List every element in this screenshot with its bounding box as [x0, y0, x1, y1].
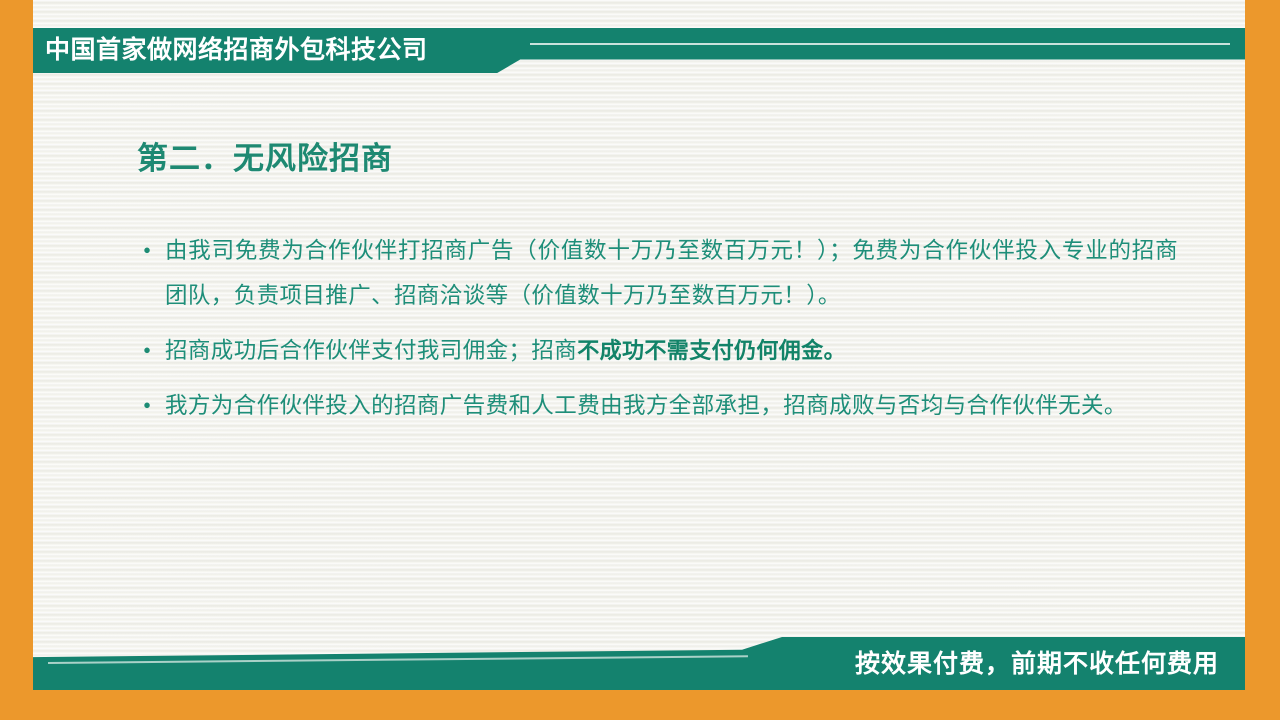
- bullet-marker-icon: •: [143, 328, 165, 373]
- bullet-segment-plain: 我方为合作伙伴投入的招商广告费和人工费由我方全部承担，招商成败与否均与合作伙伴无…: [165, 393, 1127, 418]
- bullet-text-3: 我方为合作伙伴投入的招商广告费和人工费由我方全部承担，招商成败与否均与合作伙伴无…: [165, 383, 1178, 428]
- footer-tagline: 按效果付费，前期不收任何费用: [855, 645, 1219, 683]
- bullet-list: • 由我司免费为合作伙伴打招商广告（价值数十万乃至数百万元！）；免费为合作伙伴投…: [143, 228, 1178, 438]
- bullet-marker-icon: •: [143, 383, 165, 428]
- slide-title: 第二．无风险招商: [137, 133, 393, 178]
- presentation-slide: 中国首家做网络招商外包科技公司 第二．无风险招商 • 由我司免费为合作伙伴打招商…: [0, 0, 1280, 720]
- bullet-segment-plain: 由我司免费为合作伙伴打招商广告（价值数十万乃至数百万元！）；免费为合作伙伴投入专…: [165, 238, 1178, 308]
- bullet-segment-emphasis: 不成功不需支付仍何佣金。: [577, 338, 846, 363]
- list-item: • 招商成功后合作伙伴支付我司佣金；招商不成功不需支付仍何佣金。: [143, 328, 1178, 373]
- bullet-marker-icon: •: [143, 228, 165, 273]
- list-item: • 我方为合作伙伴投入的招商广告费和人工费由我方全部承担，招商成败与否均与合作伙…: [143, 383, 1178, 428]
- header-banner-title: 中国首家做网络招商外包科技公司: [45, 28, 428, 73]
- bullet-segment-plain: 招商成功后合作伙伴支付我司佣金；招商: [165, 338, 577, 363]
- bullet-text-2: 招商成功后合作伙伴支付我司佣金；招商不成功不需支付仍何佣金。: [165, 328, 1178, 373]
- list-item: • 由我司免费为合作伙伴打招商广告（价值数十万乃至数百万元！）；免费为合作伙伴投…: [143, 228, 1178, 318]
- bullet-text-1: 由我司免费为合作伙伴打招商广告（价值数十万乃至数百万元！）；免费为合作伙伴投入专…: [165, 228, 1178, 318]
- header-divider-line: [530, 43, 1230, 45]
